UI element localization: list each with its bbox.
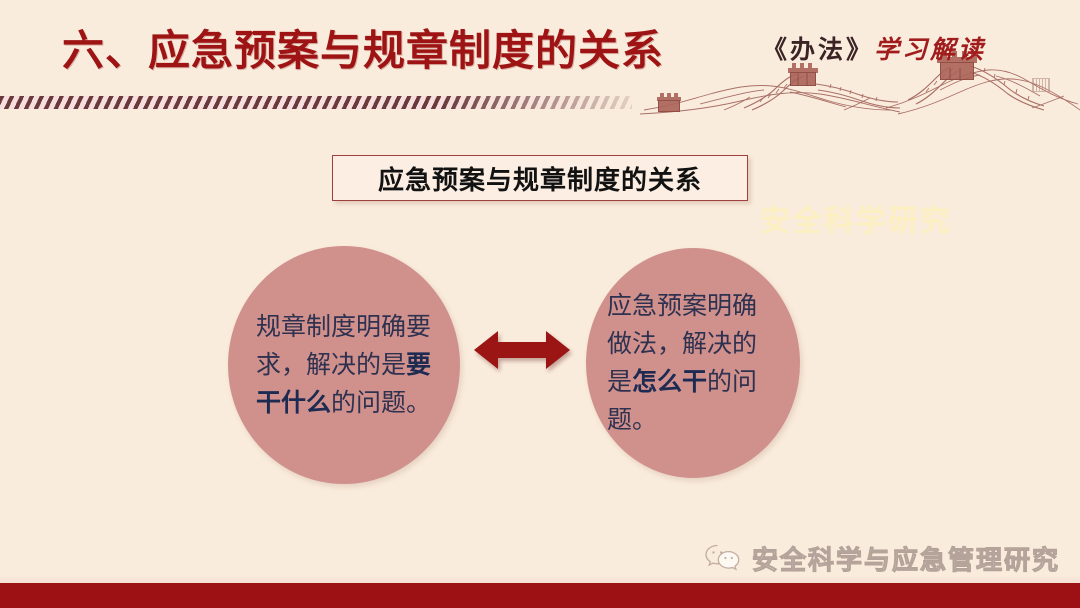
page-title: 六、应急预案与规章制度的关系 [62, 22, 664, 80]
headline-text: 应急预案与规章制度的关系 [378, 160, 702, 197]
title-divider-fade [0, 96, 632, 109]
seal-stamp-icon [1032, 78, 1050, 92]
footer-watermark: 安全科学与应急管理研究 [703, 538, 1060, 578]
concept-circle-left-text: 规章制度明确要求，解决的是要干什么的问题。 [256, 308, 432, 422]
brand-calligraphy: 《办法》学习解读 [762, 30, 986, 66]
right-emphasis: 怎么干 [632, 368, 707, 396]
headline-box: 应急预案与规章制度的关系 [332, 155, 748, 201]
concept-circle-left: 规章制度明确要求，解决的是要干什么的问题。 [228, 246, 460, 484]
brand-open-mark: 《办法》 [762, 37, 874, 64]
wechat-icon [703, 542, 743, 574]
footer-account-name: 安全科学与应急管理研究 [752, 540, 1060, 577]
concept-circle-right-text: 应急预案明确做法，解决的是怎么干的问题。 [607, 287, 779, 439]
bottom-bar [0, 583, 1080, 608]
left-lead: 规章制度明确要求，解决的是 [256, 313, 431, 379]
left-tail: 的问题。 [331, 389, 431, 417]
slide-canvas: 六、应急预案与规章制度的关系 [0, 0, 1080, 608]
slide-header: 六、应急预案与规章制度的关系 [0, 0, 1080, 118]
concept-circle-right: 应急预案明确做法，解决的是怎么干的问题。 [586, 248, 800, 478]
brand-word: 学习解读 [874, 37, 986, 64]
faint-watermark: 安全科学研究 [760, 196, 952, 240]
bidirectional-arrow-icon [472, 322, 572, 378]
